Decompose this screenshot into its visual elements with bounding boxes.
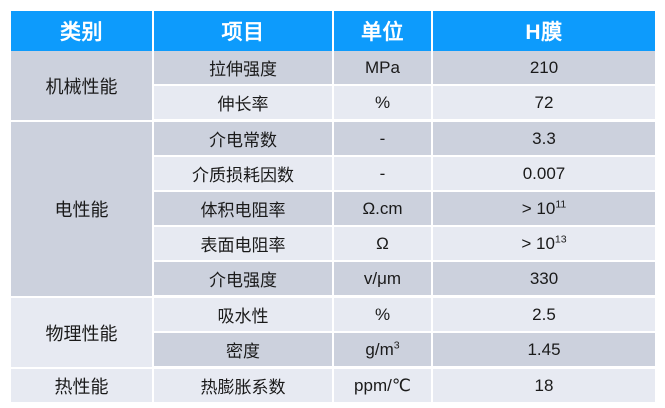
value-cell: > 1013 (433, 227, 655, 262)
value-cell: 330 (433, 262, 655, 298)
value-cell: 210 (433, 51, 655, 86)
header-row: 类别 项目 单位 H膜 (11, 11, 655, 51)
unit-cell: Ω (334, 227, 433, 262)
value-cell: 0.007 (433, 157, 655, 192)
item-cell: 表面电阻率 (154, 227, 334, 262)
material-spec-table: 类别 项目 单位 H膜 机械性能拉伸强度MPa210伸长率%72电性能介电常数-… (11, 11, 655, 405)
category-cell: 热性能 (11, 369, 154, 405)
item-cell: 介质损耗因数 (154, 157, 334, 192)
table-header: 类别 项目 单位 H膜 (11, 11, 655, 51)
header-cell-unit: 单位 (334, 11, 433, 51)
unit-cell: ppm/℃ (334, 369, 433, 405)
unit-cell: - (334, 122, 433, 157)
category-cell: 物理性能 (11, 298, 154, 369)
unit-cell: % (334, 86, 433, 122)
header-cell-value: H膜 (433, 11, 655, 51)
category-cell: 机械性能 (11, 51, 154, 122)
table-row: 物理性能吸水性%2.5 (11, 298, 655, 333)
item-cell: 拉伸强度 (154, 51, 334, 86)
unit-cell: - (334, 157, 433, 192)
value-cell: 72 (433, 86, 655, 122)
category-cell: 电性能 (11, 122, 154, 298)
unit-cell: % (334, 298, 433, 333)
unit-cell: v/μm (334, 262, 433, 298)
unit-cell: MPa (334, 51, 433, 86)
table-row: 机械性能拉伸强度MPa210 (11, 51, 655, 86)
header-cell-category: 类别 (11, 11, 154, 51)
value-cell: 3.3 (433, 122, 655, 157)
header-cell-item: 项目 (154, 11, 334, 51)
value-cell: 1.45 (433, 333, 655, 369)
item-cell: 吸水性 (154, 298, 334, 333)
table-row: 电性能介电常数-3.3 (11, 122, 655, 157)
spec-table-container: 类别 项目 单位 H膜 机械性能拉伸强度MPa210伸长率%72电性能介电常数-… (11, 11, 655, 405)
item-cell: 介电强度 (154, 262, 334, 298)
item-cell: 介电常数 (154, 122, 334, 157)
item-cell: 伸长率 (154, 86, 334, 122)
unit-cell: Ω.cm (334, 192, 433, 227)
item-cell: 热膨胀系数 (154, 369, 334, 405)
table-body: 机械性能拉伸强度MPa210伸长率%72电性能介电常数-3.3介质损耗因数-0.… (11, 51, 655, 405)
item-cell: 密度 (154, 333, 334, 369)
table-row: 热性能热膨胀系数ppm/℃18 (11, 369, 655, 405)
value-cell: 18 (433, 369, 655, 405)
value-cell: 2.5 (433, 298, 655, 333)
value-cell: > 1011 (433, 192, 655, 227)
item-cell: 体积电阻率 (154, 192, 334, 227)
unit-cell: g/m3 (334, 333, 433, 369)
